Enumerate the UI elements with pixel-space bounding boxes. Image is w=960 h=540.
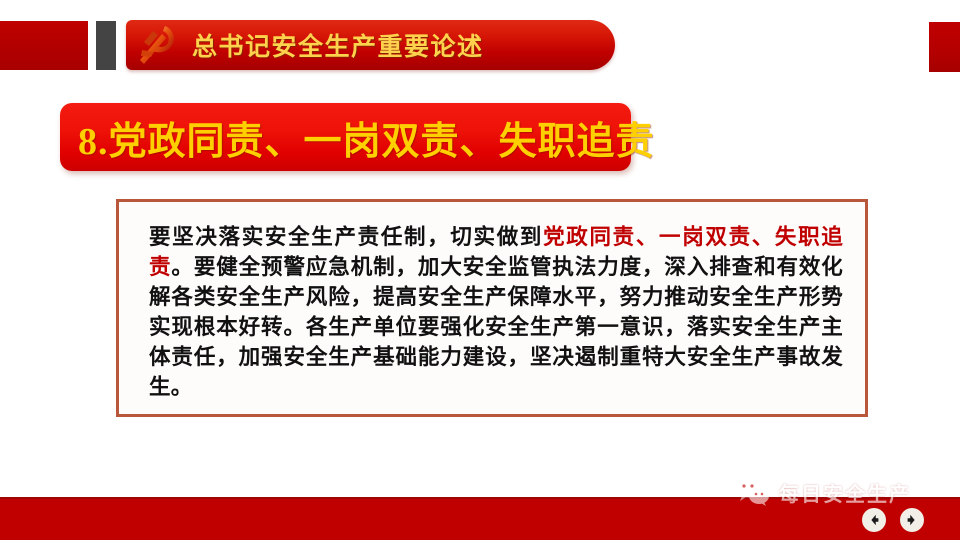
- decor-block-top-left: [0, 21, 88, 70]
- slide-title-text: 8.党政同责、一岗双责、失职追责: [60, 110, 655, 165]
- header-banner: 总书记安全生产重要论述: [126, 20, 615, 70]
- decor-gray-bar-top-left: [96, 21, 116, 70]
- body-paragraph: 要坚决落实安全生产责任制，切实做到党政同责、一岗双责、失职追责。要健全预警应急机…: [119, 202, 865, 412]
- presentation-slide: 总书记安全生产重要论述 8.党政同责、一岗双责、失职追责 要坚决落实安全生产责任…: [0, 0, 960, 540]
- body-segment-plain-2: 。要健全预警应急机制，加大安全监管执法力度，深入排查和有效化解各类安全生产风险，…: [149, 255, 843, 399]
- body-content-box: 要坚决落实安全生产责任制，切实做到党政同责、一岗双责、失职追责。要健全预警应急机…: [116, 199, 868, 417]
- decor-block-top-right: [929, 22, 960, 72]
- wechat-icon: [735, 477, 771, 507]
- watermark-label: 每日安全生产: [779, 478, 911, 507]
- party-emblem-icon: [132, 22, 182, 68]
- slide-navigation: [862, 508, 924, 532]
- previous-slide-button[interactable]: [862, 508, 886, 532]
- footer-watermark: 每日安全生产: [735, 477, 911, 507]
- body-segment-plain-1: 要坚决落实安全生产责任制，切实做到: [149, 225, 543, 249]
- next-slide-button[interactable]: [900, 508, 924, 532]
- arrow-left-icon: [867, 513, 881, 527]
- arrow-right-icon: [905, 513, 919, 527]
- header-banner-title: 总书记安全生产重要论述: [192, 27, 484, 63]
- slide-title-banner: 8.党政同责、一岗双责、失职追责: [60, 103, 631, 171]
